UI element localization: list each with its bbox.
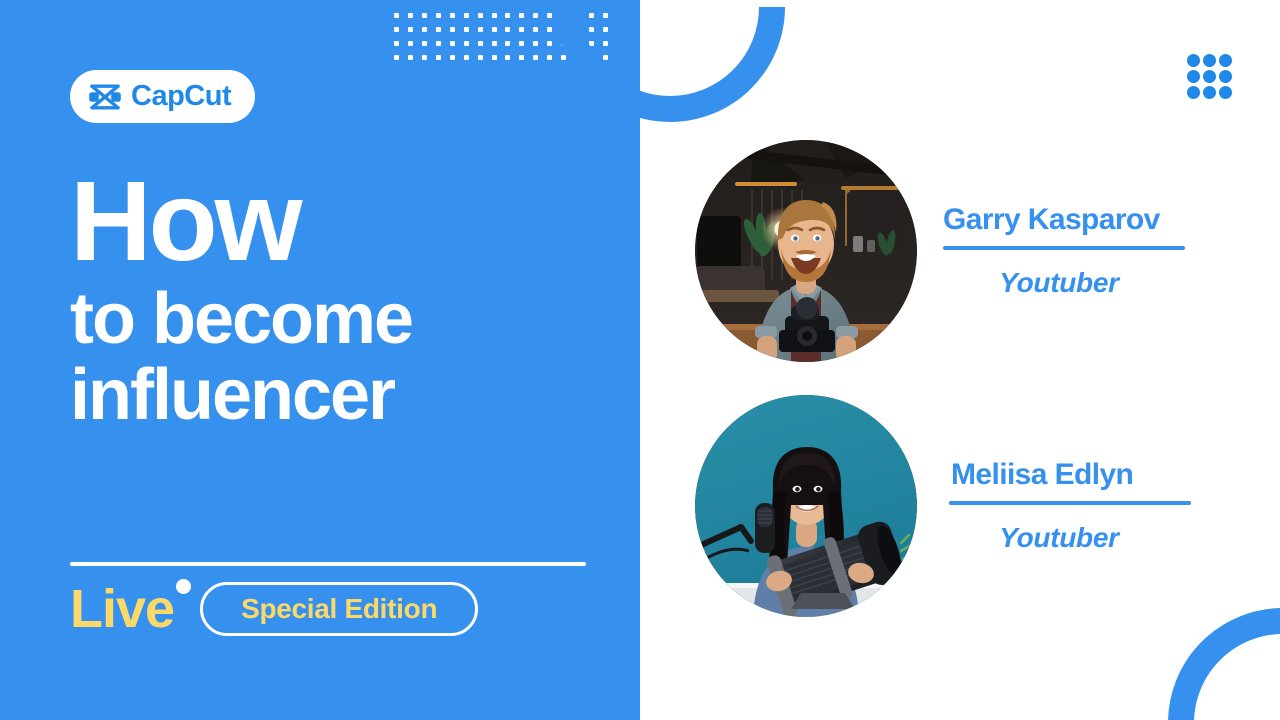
speaker-name: Garry Kasparov xyxy=(943,203,1205,236)
speaker-photo-male-videographer xyxy=(695,140,917,362)
poster-canvas: CapCut How to become influencer Live Spe… xyxy=(0,0,1280,720)
live-label: Live xyxy=(70,579,174,639)
speaker-card-2[interactable]: Meliisa Edlyn Youtuber xyxy=(695,395,1205,617)
nine-dot-cluster-icon xyxy=(1185,52,1233,100)
headline-line-2: to become xyxy=(70,283,630,356)
divider xyxy=(70,562,586,566)
speaker-name-underline xyxy=(949,501,1191,505)
speaker-photo-female-creator xyxy=(695,395,917,617)
headline-line-1: How xyxy=(70,168,630,275)
capcut-logo-badge[interactable]: CapCut xyxy=(70,70,255,123)
speaker-role: Youtuber xyxy=(943,268,1205,299)
speaker-info-2: Meliisa Edlyn Youtuber xyxy=(943,458,1205,554)
live-label-wrap: Live xyxy=(70,582,174,636)
speaker-role: Youtuber xyxy=(943,523,1205,554)
live-status-dot-icon xyxy=(176,579,191,594)
page-title: How to become influencer xyxy=(70,168,630,432)
live-row: Live Special Edition xyxy=(70,582,478,636)
special-edition-badge[interactable]: Special Edition xyxy=(200,582,478,636)
quarter-ring-arc-icon-bottom xyxy=(1168,608,1280,720)
headline-line-3: influencer xyxy=(70,359,630,432)
speaker-card-1[interactable]: Garry Kasparov Youtuber xyxy=(695,140,1205,362)
capcut-logo-icon xyxy=(88,83,122,111)
speaker-info-1: Garry Kasparov Youtuber xyxy=(943,203,1205,299)
capcut-logo-text: CapCut xyxy=(131,82,231,111)
special-edition-label: Special Edition xyxy=(241,595,437,623)
speaker-name: Meliisa Edlyn xyxy=(943,458,1205,491)
speaker-name-underline xyxy=(943,246,1185,250)
